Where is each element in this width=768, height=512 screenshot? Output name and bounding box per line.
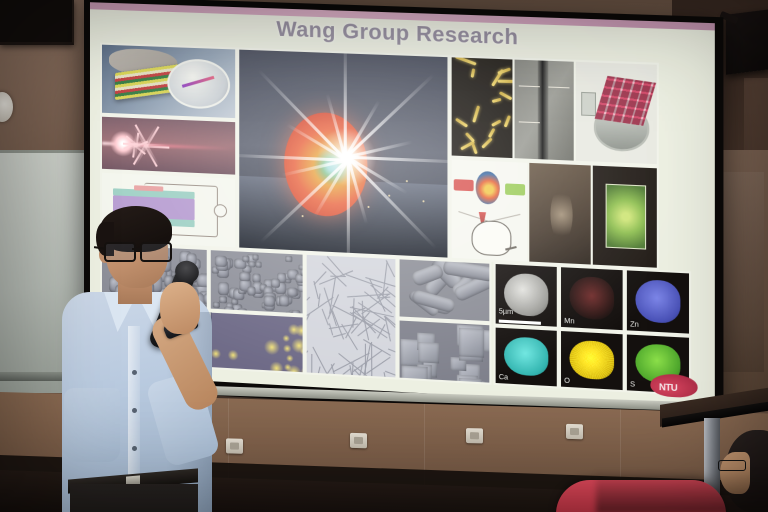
nanorod xyxy=(481,138,493,150)
panel-fluor-yellow xyxy=(209,311,305,375)
nanowire xyxy=(329,323,333,335)
glasses-bridge xyxy=(132,248,140,250)
fluorescent-square xyxy=(606,184,647,249)
fluorescence-spot xyxy=(286,354,294,363)
wall-outlet xyxy=(350,433,367,448)
nanowire-network-artwork xyxy=(307,255,396,378)
fluorescence-spot xyxy=(228,349,238,362)
emission-label xyxy=(505,184,525,196)
sem-particle xyxy=(242,256,249,262)
nanorods-artwork xyxy=(452,57,513,158)
trousers xyxy=(70,484,198,512)
nanorod xyxy=(488,127,496,138)
crystal-cube xyxy=(418,342,439,363)
in-vivo-artwork xyxy=(529,163,590,265)
panel-sem-particles-b xyxy=(209,248,305,316)
crystal-cube xyxy=(459,378,482,385)
panel-layered-sample xyxy=(100,43,237,121)
emap-tile-o: O xyxy=(559,329,625,392)
nanowire xyxy=(305,351,309,364)
measure-arrow xyxy=(549,87,569,89)
nanowire xyxy=(312,346,328,375)
ntu-logo-text: NTU xyxy=(659,382,677,393)
nanowire xyxy=(371,342,372,379)
sem-particle xyxy=(248,261,255,268)
nanorod xyxy=(491,98,501,103)
nanowire xyxy=(311,354,312,379)
emap-blob xyxy=(504,336,548,377)
eyeglasses xyxy=(104,242,174,258)
spark xyxy=(301,215,303,217)
nanoparticle-diagram xyxy=(476,170,500,205)
emap-label-scalebar: 5µm xyxy=(499,308,513,316)
sem-particle xyxy=(271,278,280,288)
foreground-blur xyxy=(596,470,768,512)
layered-stack-artwork xyxy=(102,45,235,118)
panel-sem-tubes xyxy=(398,257,492,323)
nanorod xyxy=(491,120,501,127)
red-laser-artwork xyxy=(102,117,235,175)
emap-label-zn: Zn xyxy=(630,321,639,329)
sem-particle xyxy=(256,261,262,267)
nanowire xyxy=(386,260,396,278)
panel-green-fluorescence xyxy=(591,163,659,269)
control-box xyxy=(581,92,596,116)
nanorod xyxy=(470,68,475,77)
sem-particle xyxy=(287,287,297,297)
fluorescence-spot xyxy=(264,338,280,355)
fiber-micrograph-artwork xyxy=(515,60,574,161)
nanowire xyxy=(385,371,398,380)
fluorescence-spot xyxy=(283,343,291,353)
green-fluorescence-artwork xyxy=(593,166,657,268)
crystal-cube xyxy=(420,379,436,385)
wall-outlet xyxy=(566,424,583,439)
nanowire xyxy=(305,313,311,351)
panel-chip-wafer xyxy=(574,60,659,167)
laser-burst-rays xyxy=(121,142,125,146)
wall-outlet xyxy=(466,428,483,443)
panel-sem-cubes xyxy=(398,318,492,384)
sleeve-left xyxy=(64,388,120,462)
emap-blob xyxy=(570,276,614,320)
panel-bio-imaging-mouse xyxy=(450,157,530,263)
sem-tubes-artwork xyxy=(400,259,490,321)
emap-label-s: S xyxy=(630,381,635,389)
emap-tile-zn: Zn xyxy=(625,268,691,336)
emap-label-mn: Mn xyxy=(564,318,574,326)
sem-particle xyxy=(252,255,259,261)
panel-in-vivo-image xyxy=(527,161,593,267)
crystal-cube xyxy=(459,328,484,357)
hand-right xyxy=(160,282,200,334)
wall-outlet xyxy=(226,438,243,453)
measure-arrow xyxy=(519,85,539,87)
bio-imaging-artwork xyxy=(452,160,528,262)
sem-particle xyxy=(296,274,305,283)
nanorod xyxy=(455,118,468,128)
shirt-button xyxy=(132,408,137,413)
sem-packed-artwork xyxy=(211,250,303,313)
spark xyxy=(405,180,407,182)
sem-particle xyxy=(240,272,250,282)
shirt-button xyxy=(132,370,137,375)
crystal-cube xyxy=(483,330,491,353)
emap-label-ca: Ca xyxy=(499,374,508,382)
nanowire xyxy=(327,256,345,276)
sem-cubes-artwork xyxy=(400,321,490,383)
nanorod xyxy=(472,105,480,122)
excitation-label xyxy=(454,179,474,191)
nanorod xyxy=(471,144,477,154)
nanowire xyxy=(317,366,321,377)
lens-left xyxy=(104,242,136,262)
panel-nanowire-network xyxy=(305,253,398,380)
panel-gold-nanorods xyxy=(450,55,515,160)
spark xyxy=(422,200,424,202)
circular-inset xyxy=(167,58,230,110)
emap-label-o: O xyxy=(564,378,570,386)
crystal-cube xyxy=(402,366,428,385)
signal-glow xyxy=(550,187,572,241)
chip-wafer-artwork xyxy=(576,62,657,164)
sem-particle xyxy=(285,256,292,263)
fluorescence-spot xyxy=(286,364,301,374)
fluorescence-spot xyxy=(270,361,283,375)
scale-bar xyxy=(499,320,541,325)
lecture-hall-scene: Wang Group Research xyxy=(0,0,768,512)
emap-tile-ca: Ca xyxy=(494,325,559,388)
nanorod xyxy=(464,132,474,143)
nanorod xyxy=(455,55,477,65)
mouse-illustration xyxy=(471,219,511,256)
fiber-core xyxy=(538,60,549,159)
panel-red-laser-burst xyxy=(100,115,237,177)
shirt-button xyxy=(132,446,137,451)
wall-monitor xyxy=(0,0,74,45)
fluorescence-spot xyxy=(283,334,291,342)
lens-right xyxy=(140,242,172,262)
nanorod xyxy=(497,68,510,75)
yellow-fluorescence-artwork xyxy=(211,313,303,373)
panel-fiber-cross-section xyxy=(512,57,575,162)
fluorescence-spot xyxy=(291,338,305,355)
measure-arrow xyxy=(519,121,539,123)
sem-particle xyxy=(279,295,289,306)
sem-particle xyxy=(247,286,255,296)
nanorod xyxy=(504,116,511,129)
emap-blob xyxy=(570,339,614,380)
emap-blob xyxy=(636,279,681,323)
laser-sphere-artwork xyxy=(239,50,447,258)
emap-tile-mn: Mn xyxy=(559,265,625,332)
sem-particle xyxy=(263,295,274,307)
presenter xyxy=(52,206,222,512)
panel-laser-sphere xyxy=(237,48,449,260)
nanowire xyxy=(361,301,363,321)
emap-tile-reference: 5µm xyxy=(494,262,559,329)
